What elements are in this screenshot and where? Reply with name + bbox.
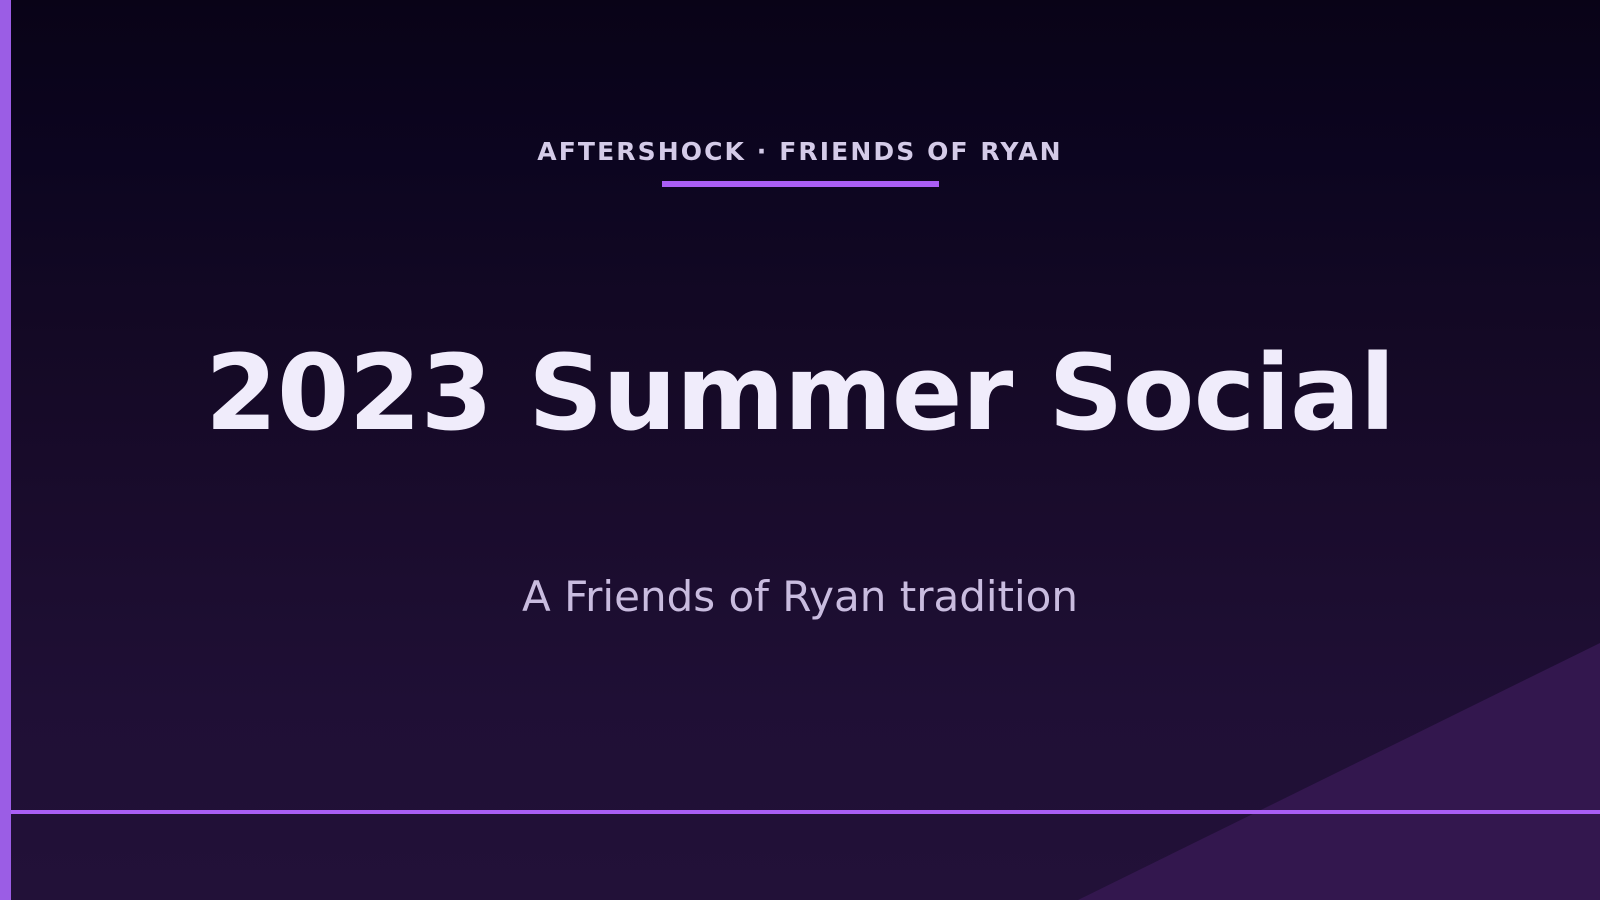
slide-content: AFTERSHOCK · FRIENDS OF RYAN 2023 Summer… bbox=[0, 0, 1600, 810]
left-accent-rail bbox=[0, 0, 11, 900]
title-slide: AFTERSHOCK · FRIENDS OF RYAN 2023 Summer… bbox=[0, 0, 1600, 900]
footer-accent-rule bbox=[0, 810, 1600, 814]
eyebrow-accent-underline bbox=[662, 181, 939, 187]
slide-subtitle: A Friends of Ryan tradition bbox=[522, 573, 1078, 621]
footer-band bbox=[0, 814, 1600, 900]
page-title: 2023 Summer Social bbox=[205, 339, 1395, 448]
slide-eyebrow: AFTERSHOCK · FRIENDS OF RYAN bbox=[537, 138, 1062, 166]
